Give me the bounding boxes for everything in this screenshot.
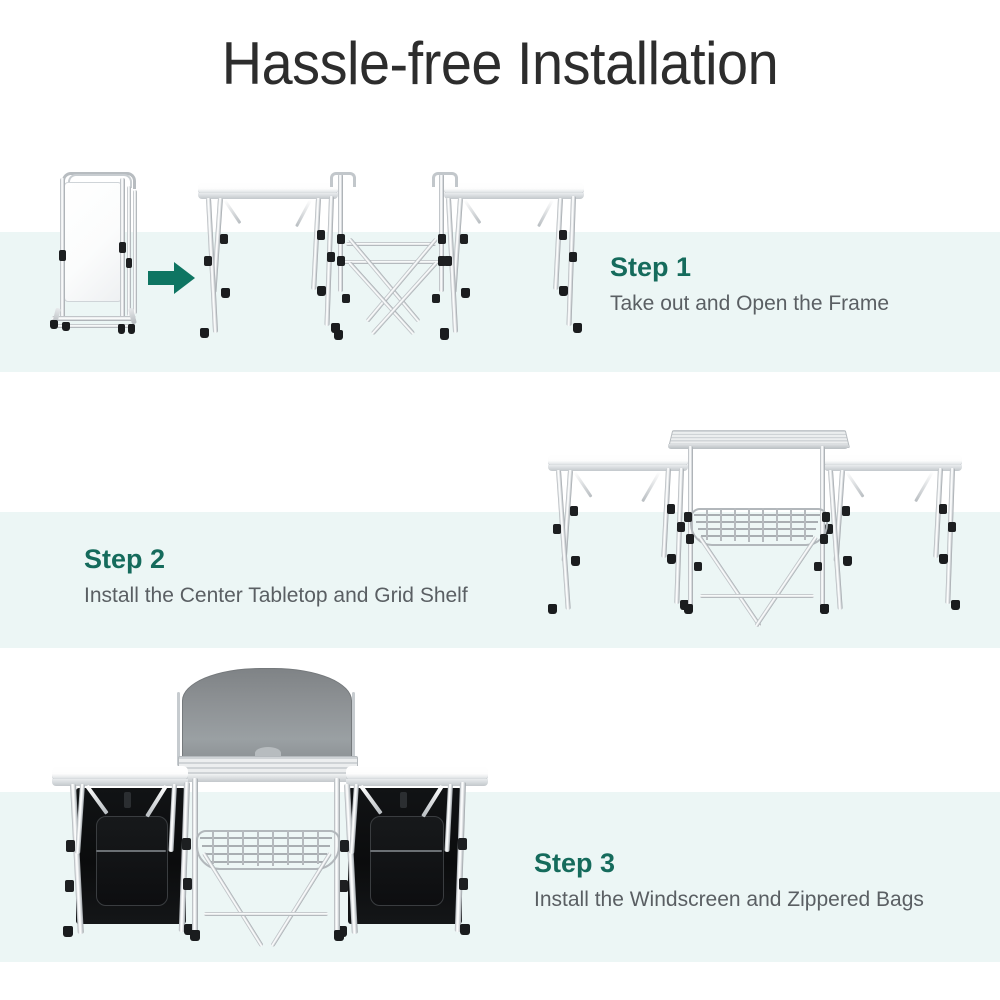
arrow-right-icon [148, 260, 196, 296]
windscreen [182, 668, 352, 764]
step-1-heading: Step 1 [610, 252, 889, 282]
infographic-page: Hassle-free Installation [0, 0, 1000, 1000]
step-2-caption: Step 2 Install the Center Tabletop and G… [84, 544, 468, 609]
full-assembly-illustration [44, 668, 492, 960]
zippered-bag-left [76, 788, 186, 924]
open-frame-illustration [196, 168, 586, 368]
page-title: Hassle-free Installation [35, 32, 965, 96]
step-1-caption: Step 1 Take out and Open the Frame [610, 252, 889, 317]
step-3-description: Install the Windscreen and Zippered Bags [534, 887, 924, 913]
step-2-description: Install the Center Tabletop and Grid She… [84, 583, 468, 609]
step-1-description: Take out and Open the Frame [610, 291, 889, 317]
table-with-center-top-illustration [548, 418, 962, 644]
zippered-bag-right [348, 788, 462, 924]
step-3-heading: Step 3 [534, 848, 924, 878]
step-2-heading: Step 2 [84, 544, 468, 574]
folded-table-illustration [38, 172, 148, 342]
step-3-caption: Step 3 Install the Windscreen and Zipper… [534, 848, 924, 913]
